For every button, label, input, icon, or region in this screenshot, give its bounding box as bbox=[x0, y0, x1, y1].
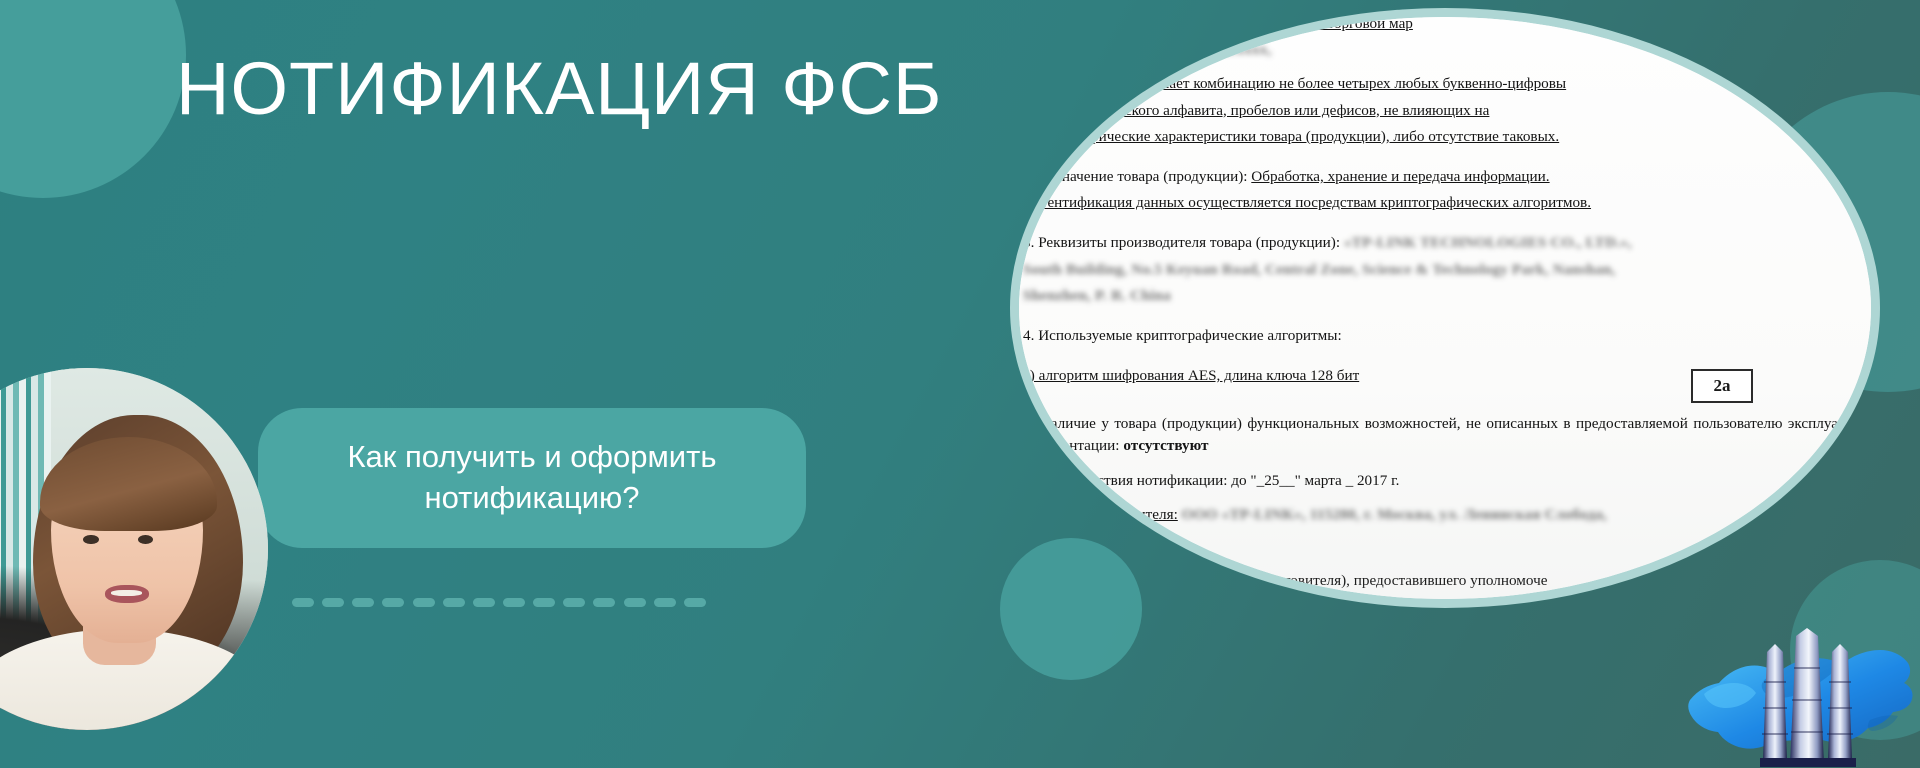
presenter-portrait bbox=[0, 368, 268, 730]
doc-item-5: 5. Наличие у товара (продукции) функцион… bbox=[1023, 413, 1880, 457]
dash-segment bbox=[624, 598, 646, 607]
slide-root: НОТИФИКАЦИЯ ФСБ Как получить и оформить … bbox=[0, 0, 1920, 768]
doc-line-2: где индекс X - обозначает комбинацию не … bbox=[1023, 73, 1880, 95]
dash-segment bbox=[292, 598, 314, 607]
doc-line-1-blurred: TL-SFxxxx, TL-SGxxxx, TL-SLxxxx, bbox=[1023, 39, 1880, 61]
doc-line-1-tail: ние товара (продукции) Сетевые коммутато… bbox=[1023, 15, 1413, 32]
doc-item-7-blurred: ООО «TP-LINK», 115280, г. Москва, ул. Ле… bbox=[1182, 506, 1607, 523]
dash-segment bbox=[533, 598, 555, 607]
doc-item-7: 7. Реквизиты заявителя: ООО «TP-LINK», 1… bbox=[1023, 504, 1880, 526]
page-title: НОТИФИКАЦИЯ ФСБ bbox=[176, 52, 943, 126]
dashed-divider bbox=[292, 598, 706, 607]
dash-segment bbox=[503, 598, 525, 607]
doc-item-2-value: Обработка, хранение и передача информаци… bbox=[1251, 168, 1549, 185]
dash-segment bbox=[563, 598, 585, 607]
doc-item-3-label: 3. Реквизиты производителя товара (проду… bbox=[1023, 234, 1340, 251]
doc-item-2-value-2: Аутентификация данных осуществляется пос… bbox=[1023, 192, 1880, 214]
stamp-box-2a: 2а bbox=[1691, 369, 1753, 403]
document-scan-ellipse: ние товара (продукции) Сетевые коммутато… bbox=[1010, 8, 1880, 608]
towers-icon bbox=[1760, 628, 1856, 767]
doc-line-3: символов латинского алфавита, пробелов и… bbox=[1023, 100, 1880, 122]
doc-item-6: 6. Срок действия нотификации: до "_25__"… bbox=[1023, 470, 1880, 492]
dash-segment bbox=[473, 598, 495, 607]
company-logo bbox=[1674, 628, 1920, 768]
doc-item-4: 4. Используемые криптографические алгори… bbox=[1023, 325, 1880, 347]
dash-segment bbox=[382, 598, 404, 607]
dash-segment bbox=[593, 598, 615, 607]
decorative-circle-top-left bbox=[0, 0, 186, 198]
doc-item-7-blurred-2: дом 26 bbox=[1023, 530, 1880, 552]
portrait-mouth bbox=[105, 585, 148, 603]
doc-item-5-line1: 5. Наличие у товара (продукции) функцион… bbox=[1023, 415, 1571, 432]
dash-segment bbox=[443, 598, 465, 607]
notification-document-page: ние товара (продукции) Сетевые коммутато… bbox=[1010, 8, 1880, 608]
dash-segment bbox=[413, 598, 435, 607]
portrait-eye-right bbox=[138, 535, 153, 544]
dash-segment bbox=[654, 598, 676, 607]
doc-item-2-label: 2. Назначение товара (продукции): bbox=[1023, 168, 1248, 185]
doc-line-4: криптографические характеристики товара … bbox=[1023, 126, 1880, 148]
doc-item-7-label: 7. Реквизиты заявителя: bbox=[1023, 506, 1178, 523]
doc-item-8-line2: полномочия по оформлению нотификации (пр… bbox=[1023, 596, 1880, 608]
doc-item-8-line1: квизиты документа производителя (изготов… bbox=[1023, 570, 1880, 592]
doc-item-2: 2. Назначение товара (продукции): Обрабо… bbox=[1023, 166, 1880, 188]
logo-svg bbox=[1674, 628, 1920, 768]
doc-line-1: ние товара (продукции) Сетевые коммутато… bbox=[1023, 13, 1880, 35]
subtitle-text: Как получить и оформить нотификацию? bbox=[288, 437, 776, 519]
dash-segment bbox=[322, 598, 344, 607]
portrait-eye-left bbox=[83, 535, 98, 544]
dash-segment bbox=[352, 598, 374, 607]
dash-segment bbox=[684, 598, 706, 607]
doc-item-3-blurred-3: Shenzhen, P. R. China bbox=[1023, 285, 1880, 307]
doc-item-3-blurred: «TP-LINK TECHNOLOGIES CO., LTD.», bbox=[1344, 234, 1632, 251]
doc-item-3: 3. Реквизиты производителя товара (проду… bbox=[1023, 232, 1880, 254]
subtitle-pill: Как получить и оформить нотификацию? bbox=[258, 408, 806, 548]
doc-item-3-blurred-2: South Building, No.5 Keyuan Road, Centra… bbox=[1023, 259, 1880, 281]
doc-item-5-value: отсутствуют bbox=[1123, 437, 1208, 454]
